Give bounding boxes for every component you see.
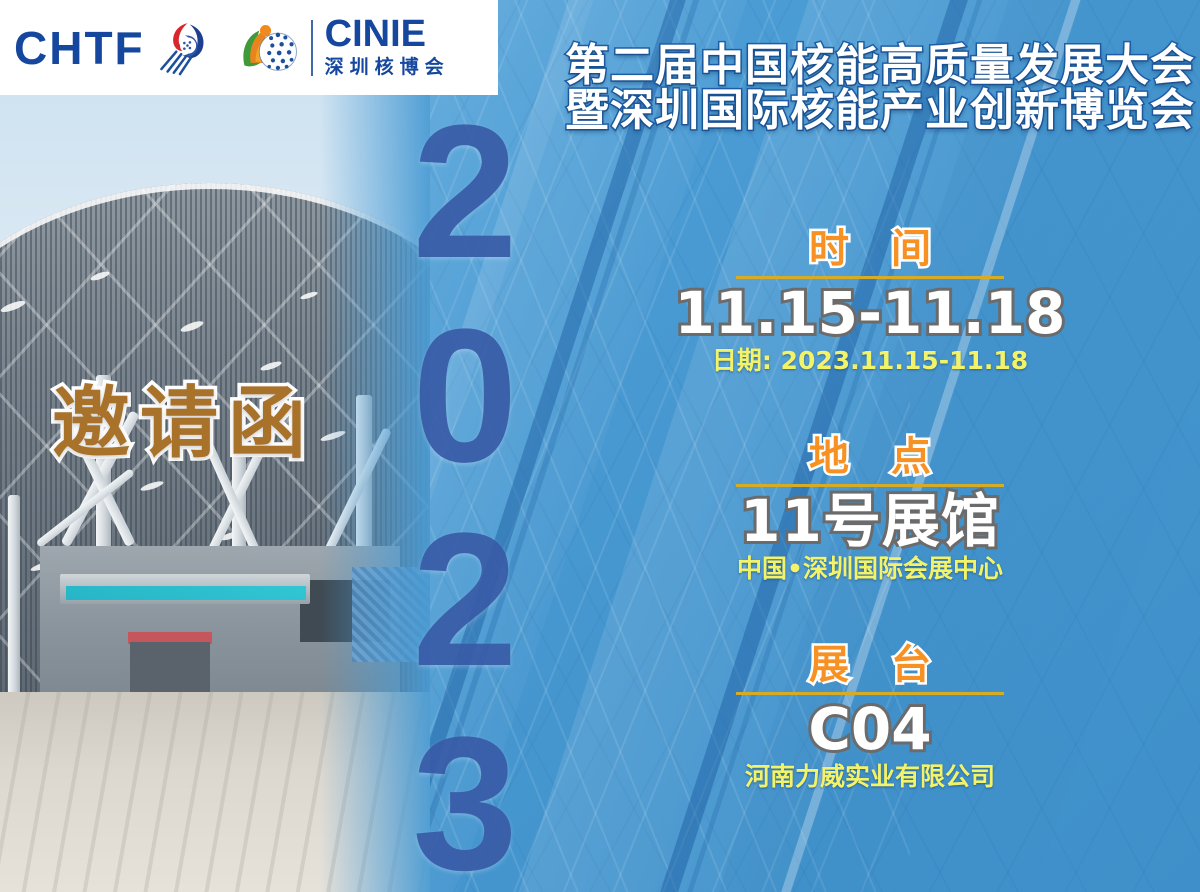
chtf-comet-icon <box>147 17 213 79</box>
info-value-time: 11.15-11.18 <box>630 283 1110 344</box>
info-sub-booth: 河南力威实业有限公司 <box>630 762 1110 792</box>
cinie-name-en: CINIE <box>325 15 450 53</box>
year-2023: 2 0 2 3 <box>404 118 526 878</box>
cinie-name-cn: 深圳核博会 <box>325 56 450 80</box>
info-block-booth: 展 台 C04 河南力威实业有限公司 <box>630 644 1110 792</box>
year-digit-2: 0 <box>412 322 518 470</box>
info-block-time: 时 间 11.15-11.18 日期: 2023.11.15-11.18 <box>630 228 1110 376</box>
photo-sign-band <box>66 586 306 600</box>
event-title-line-1: 第二届中国核能高质量发展大会 <box>505 44 1195 89</box>
info-block-place: 地 点 11号展馆 中国•深圳国际会展中心 <box>630 436 1110 584</box>
year-digit-1: 2 <box>412 118 518 266</box>
chtf-logo[interactable]: CHTF <box>14 17 213 79</box>
info-sub-place: 中国•深圳国际会展中心 <box>630 554 1110 584</box>
cinie-logo-divider <box>311 20 313 76</box>
cinie-leaf-globe-icon <box>237 17 299 79</box>
info-label-booth: 展 台 <box>644 644 1110 686</box>
info-label-place: 地 点 <box>644 436 1110 478</box>
info-label-time: 时 间 <box>644 228 1110 270</box>
cinie-logo[interactable]: CINIE 深圳核博会 <box>237 15 450 80</box>
year-digit-4: 3 <box>412 730 518 878</box>
info-value-place: 11号展馆 <box>630 491 1110 552</box>
year-digit-3: 2 <box>412 526 518 674</box>
cinie-wordmark: CINIE 深圳核博会 <box>325 15 450 80</box>
venue-photo <box>0 95 430 892</box>
invitation-headline: 邀请函 <box>52 385 316 463</box>
info-value-booth: C04 <box>630 699 1110 760</box>
info-sub-time: 日期: 2023.11.15-11.18 <box>630 346 1110 376</box>
photo-entrance <box>130 642 210 692</box>
invitation-poster: CHTF <box>0 0 1200 892</box>
event-title-line-2: 暨深圳国际核能产业创新博览会 <box>505 89 1195 134</box>
chtf-wordmark: CHTF <box>14 25 145 71</box>
event-title: 第二届中国核能高质量发展大会 暨深圳国际核能产业创新博览会 <box>505 44 1195 134</box>
logo-strip: CHTF <box>0 0 498 95</box>
